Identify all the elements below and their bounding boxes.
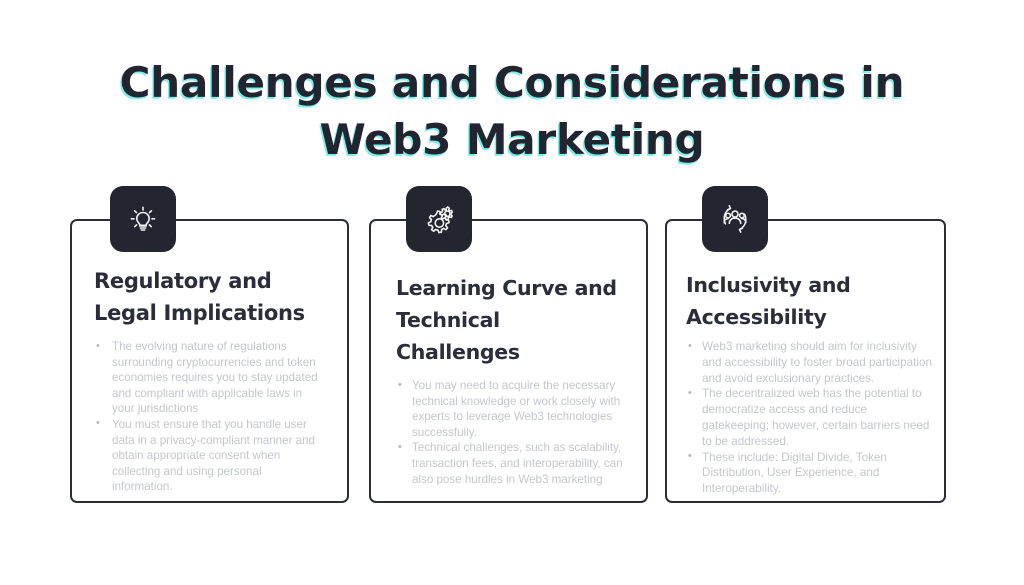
cards-row: Regulatory and Legal Implications The ev… (0, 186, 1024, 516)
card-bullet-list: Web3 marketing should aim for inclusivit… (686, 339, 934, 497)
card-inclusivity-and-accessibility: Inclusivity and Accessibility Web3 marke… (665, 219, 946, 503)
card-learning-curve-and-technical-challenges: Learning Curve and Technical Challenges … (369, 219, 648, 503)
card-icon-tile-learning-curve (406, 186, 472, 252)
gears-icon (419, 199, 459, 239)
card-bullet-list: You may need to acquire the necessary te… (396, 378, 628, 487)
list-item: You may need to acquire the necessary te… (396, 378, 628, 440)
card-bullet-list: The evolving nature of regulations surro… (94, 339, 325, 495)
people-cycle-icon (713, 197, 757, 241)
page-title: Challenges and Considerations in Web3 Ma… (90, 54, 934, 168)
slide-canvas: Challenges and Considerations in Web3 Ma… (0, 0, 1024, 585)
card-content: Inclusivity and Accessibility Web3 marke… (667, 221, 944, 497)
card-icon-tile-regulatory (110, 186, 176, 252)
card-heading: Regulatory and Legal Implications (94, 265, 325, 329)
list-item: You must ensure that you handle user dat… (94, 417, 325, 495)
slide-title-container: Challenges and Considerations in Web3 Ma… (90, 54, 934, 168)
card-content: Regulatory and Legal Implications The ev… (72, 221, 347, 495)
card-content: Learning Curve and Technical Challenges … (371, 221, 646, 487)
list-item: The decentralized web has the potential … (686, 386, 934, 449)
list-item: Web3 marketing should aim for inclusivit… (686, 339, 934, 386)
list-item: Technical challenges, such as scalabilit… (396, 440, 628, 487)
lightbulb-icon (123, 199, 163, 239)
list-item: The evolving nature of regulations surro… (94, 339, 325, 417)
card-heading: Inclusivity and Accessibility (686, 269, 934, 333)
card-heading: Learning Curve and Technical Challenges (396, 272, 628, 368)
card-icon-tile-inclusivity (702, 186, 768, 252)
card-regulatory-and-legal-implications: Regulatory and Legal Implications The ev… (70, 219, 349, 503)
list-item: These include: Digital Divide, Token Dis… (686, 450, 934, 497)
